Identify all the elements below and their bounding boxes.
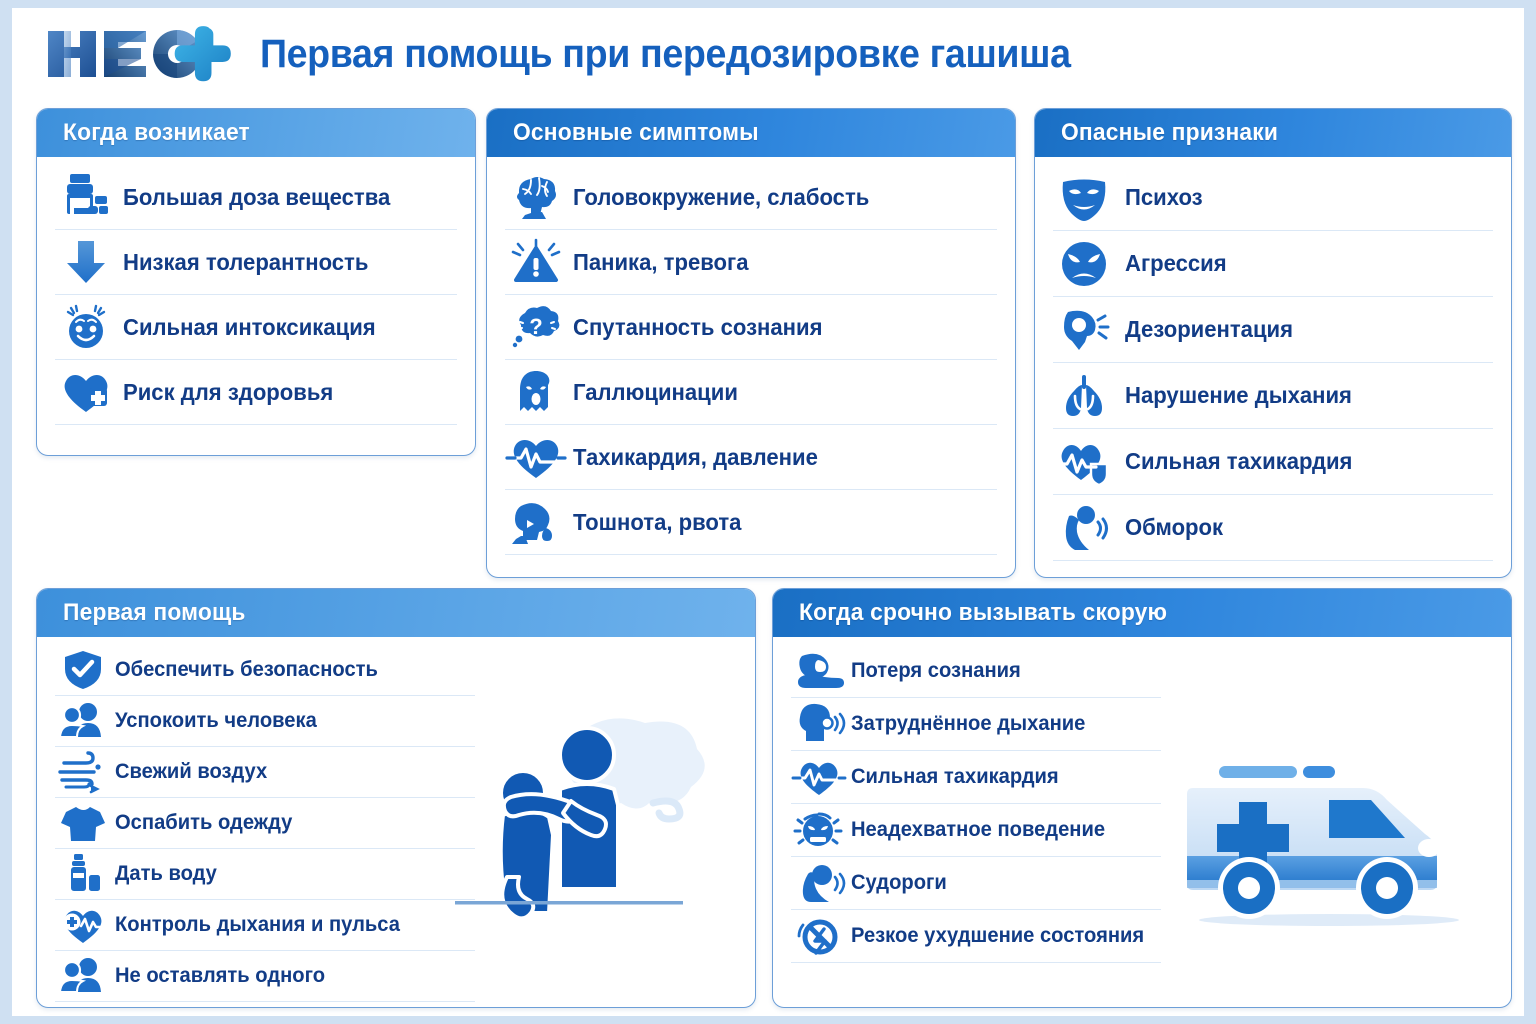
heart-pulse-icon bbox=[791, 754, 847, 800]
list-item[interactable]: Сильная тахикардия bbox=[791, 751, 1161, 804]
list-item-label: Головокружение, слабость bbox=[573, 184, 869, 211]
list-item[interactable]: Свежий воздух bbox=[55, 747, 475, 798]
list-item-label: Агрессия bbox=[1125, 250, 1227, 277]
down-arrow-icon bbox=[55, 234, 117, 290]
list-item[interactable]: Оспабить одежду bbox=[55, 798, 475, 849]
list-item[interactable]: Нарушение дыхания bbox=[1053, 363, 1493, 429]
list-item[interactable]: Тахикардия, давление bbox=[505, 425, 997, 490]
panel-danger-signs: Опасные признаки Психоз bbox=[1034, 108, 1512, 578]
water-bottle-icon bbox=[55, 851, 111, 897]
list-item-label: Затруднённое дыхание bbox=[851, 712, 1085, 736]
heart-cross-icon bbox=[55, 364, 117, 420]
panel-header: Первая помощь bbox=[37, 589, 755, 637]
lungs-icon bbox=[1053, 368, 1115, 424]
list-item[interactable]: Сильная интоксикация bbox=[55, 295, 457, 360]
panel-body: Обеспечить безопасность У bbox=[37, 637, 755, 1007]
list-item-label: Низкая толерантность bbox=[123, 249, 368, 276]
sudden-decline-icon bbox=[791, 913, 847, 959]
list-item[interactable]: Потеря сознания bbox=[791, 645, 1161, 698]
list-item[interactable]: Дезориентация bbox=[1053, 297, 1493, 363]
infographic-canvas: Первая помощь при передозировке гашиша К… bbox=[12, 8, 1524, 1016]
list-item[interactable]: Головокружение, слабость bbox=[505, 165, 997, 230]
list-item-label: Галлюцинации bbox=[573, 379, 738, 406]
list-item-label: Тошнота, рвота bbox=[573, 509, 741, 536]
list-item-label: Спутанность сознания bbox=[573, 314, 822, 341]
angry-face-icon bbox=[1053, 236, 1115, 292]
list-item-label: Сильная тахикардия bbox=[1125, 448, 1352, 475]
list-item[interactable]: Психоз bbox=[1053, 165, 1493, 231]
two-people-icon bbox=[55, 698, 111, 744]
panel-title: Когда возникает bbox=[63, 119, 250, 147]
panel-body: Головокружение, слабость Паника, тревога bbox=[487, 157, 1015, 577]
warning-triangle-icon bbox=[505, 234, 567, 290]
vomiting-head-icon bbox=[505, 494, 567, 550]
panel-first-aid: Первая помощь Обеспечить безопасность bbox=[36, 588, 756, 1008]
list-item[interactable]: Галлюцинации bbox=[505, 360, 997, 425]
list-item-label: Большая доза вещества bbox=[123, 184, 390, 211]
list-item[interactable]: Неадехватное поведение bbox=[791, 804, 1161, 857]
list-item[interactable]: Обеспечить безопасность bbox=[55, 645, 475, 696]
heart-cross-pulse-icon bbox=[55, 902, 111, 948]
heart-pulse-shield-icon bbox=[1053, 434, 1115, 490]
list-item-label: Не оставлять одного bbox=[115, 964, 325, 988]
list-item[interactable]: ? Спутанность сознания bbox=[505, 295, 997, 360]
first-aid-list: Обеспечить безопасность У bbox=[55, 645, 475, 1002]
two-people-icon bbox=[55, 953, 111, 999]
list-item[interactable]: Паника, тревога bbox=[505, 230, 997, 295]
question-cloud-icon: ? bbox=[505, 299, 567, 355]
tshirt-icon bbox=[55, 800, 111, 846]
list-item-label: Дать воду bbox=[115, 862, 217, 886]
list-item[interactable]: Контроль дыхания и пульса bbox=[55, 900, 475, 951]
panel-title: Основные симптомы bbox=[513, 119, 759, 147]
panel-header: Опасные признаки bbox=[1035, 109, 1511, 157]
list-item[interactable]: Дать воду bbox=[55, 849, 475, 900]
heo-plus-logo bbox=[42, 25, 242, 83]
fainting-person-icon bbox=[1053, 500, 1115, 556]
list-item[interactable]: Большая доза вещества bbox=[55, 165, 457, 230]
list-item[interactable]: Резкое ухудшение состояния bbox=[791, 910, 1161, 963]
list-item-label: Психоз bbox=[1125, 184, 1203, 211]
list-item-label: Обморок bbox=[1125, 514, 1223, 541]
panel-header: Основные симптомы bbox=[487, 109, 1015, 157]
list-item-label: Успокоить человека bbox=[115, 709, 317, 733]
dizzy-face-icon bbox=[55, 299, 117, 355]
list-item-label: Паника, тревога bbox=[573, 249, 749, 276]
unconscious-head-icon bbox=[791, 648, 847, 694]
panel-title: Опасные признаки bbox=[1061, 119, 1278, 147]
list-item[interactable]: Успокоить человека bbox=[55, 696, 475, 747]
list-item-label: Неадехватное поведение bbox=[851, 818, 1105, 842]
wind-icon bbox=[55, 749, 111, 795]
list-item-label: Судороги bbox=[851, 871, 947, 895]
panel-title: Первая помощь bbox=[63, 599, 246, 627]
list-item[interactable]: Агрессия bbox=[1053, 231, 1493, 297]
pill-bottle-icon bbox=[55, 169, 117, 225]
list-item[interactable]: Риск для здоровья bbox=[55, 360, 457, 425]
list-item-label: Тахикардия, давление bbox=[573, 444, 818, 471]
list-item[interactable]: Низкая толерантность bbox=[55, 230, 457, 295]
list-item-label: Потеря сознания bbox=[851, 659, 1021, 683]
panel-body: Психоз Агрессия bbox=[1035, 157, 1511, 577]
list-item-label: Сильная тахикардия bbox=[851, 765, 1059, 789]
head-pin-icon bbox=[1053, 302, 1115, 358]
list-item-label: Оспабить одежду bbox=[115, 811, 292, 835]
list-item-label: Сильная интоксикация bbox=[123, 314, 376, 341]
agitated-face-icon bbox=[791, 807, 847, 853]
ghost-icon bbox=[505, 364, 567, 420]
brain-head-icon bbox=[505, 169, 567, 225]
list-item-label: Контроль дыхания и пульса bbox=[115, 913, 400, 937]
panel-body: Потеря сознания Затруднённое дыхание bbox=[773, 637, 1511, 1007]
list-item[interactable]: Затруднённое дыхание bbox=[791, 698, 1161, 751]
list-item[interactable]: Сильная тахикардия bbox=[1053, 429, 1493, 495]
two-people-comforting-illustration bbox=[455, 707, 745, 957]
list-item-label: Резкое ухудшение состояния bbox=[851, 924, 1144, 948]
list-item[interactable]: Тошнота, рвота bbox=[505, 490, 997, 555]
list-item-label: Свежий воздух bbox=[115, 760, 267, 784]
panel-main-symptoms: Основные симптомы Головокружение, слабос… bbox=[486, 108, 1016, 578]
convulsions-icon bbox=[791, 860, 847, 906]
panel-title: Когда срочно вызывать скорую bbox=[799, 599, 1167, 627]
list-item-label: Нарушение дыхания bbox=[1125, 382, 1352, 409]
svg-text:?: ? bbox=[529, 314, 542, 339]
heart-pulse-icon bbox=[505, 429, 567, 485]
panel-call-ambulance: Когда срочно вызывать скорую Поте bbox=[772, 588, 1512, 1008]
panel-header: Когда срочно вызывать скорую bbox=[773, 589, 1511, 637]
page-header: Первая помощь при передозировке гашиша bbox=[12, 8, 1524, 100]
list-item-label: Дезориентация bbox=[1125, 316, 1293, 343]
emergency-list: Потеря сознания Затруднённое дыхание bbox=[791, 645, 1161, 963]
page-title: Первая помощь при передозировке гашиша bbox=[260, 32, 1071, 77]
list-item-label: Риск для здоровья bbox=[123, 379, 333, 406]
list-item-label: Обеспечить безопасность bbox=[115, 658, 378, 682]
shield-check-icon bbox=[55, 647, 111, 693]
list-item[interactable]: Не оставлять одного bbox=[55, 951, 475, 1002]
list-item[interactable]: Судороги bbox=[791, 857, 1161, 910]
panel-when-occurs: Когда возникает bbox=[36, 108, 476, 456]
panel-body: Большая доза вещества Низкая толерантнос… bbox=[37, 157, 475, 455]
panel-header: Когда возникает bbox=[37, 109, 475, 157]
evil-mask-icon bbox=[1053, 170, 1115, 226]
ambulance-illustration bbox=[1177, 752, 1487, 937]
list-item[interactable]: Обморок bbox=[1053, 495, 1493, 561]
breathing-difficulty-icon bbox=[791, 701, 847, 747]
